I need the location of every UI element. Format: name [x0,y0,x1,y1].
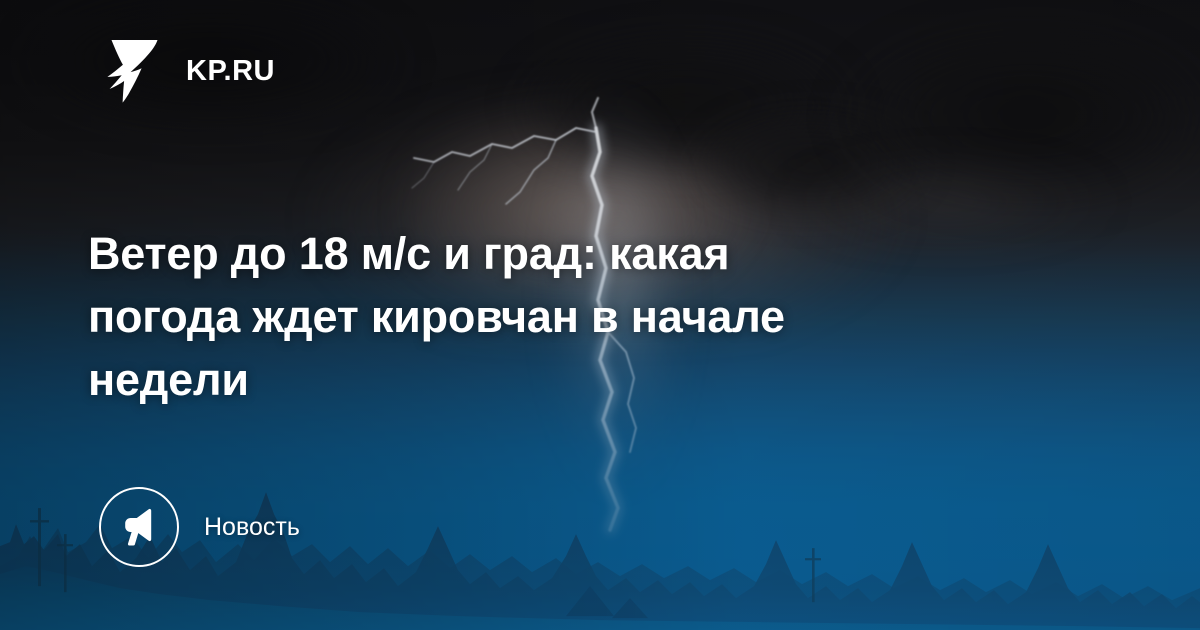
brand-lockup[interactable]: KP.RU [104,38,275,104]
page-title: Ветер до 18 м/с и град: какая погода жде… [88,222,988,411]
content-type-badge[interactable]: Новость [99,487,300,567]
page-title-line-1: Ветер до 18 м/с и град: какая [88,222,988,285]
swallow-bird-logo-icon [104,38,166,104]
megaphone-icon [118,506,160,548]
page-title-line-2: погода ждет кировчан в начале [88,285,988,348]
badge-icon-circle [99,487,179,567]
badge-label: Новость [204,515,300,540]
brand-name-label: KP.RU [186,57,275,86]
page-title-line-3: недели [88,348,988,411]
card-content: KP.RU Ветер до 18 м/с и град: какая пого… [0,0,1200,630]
social-share-card: KP.RU Ветер до 18 м/с и град: какая пого… [0,0,1200,630]
